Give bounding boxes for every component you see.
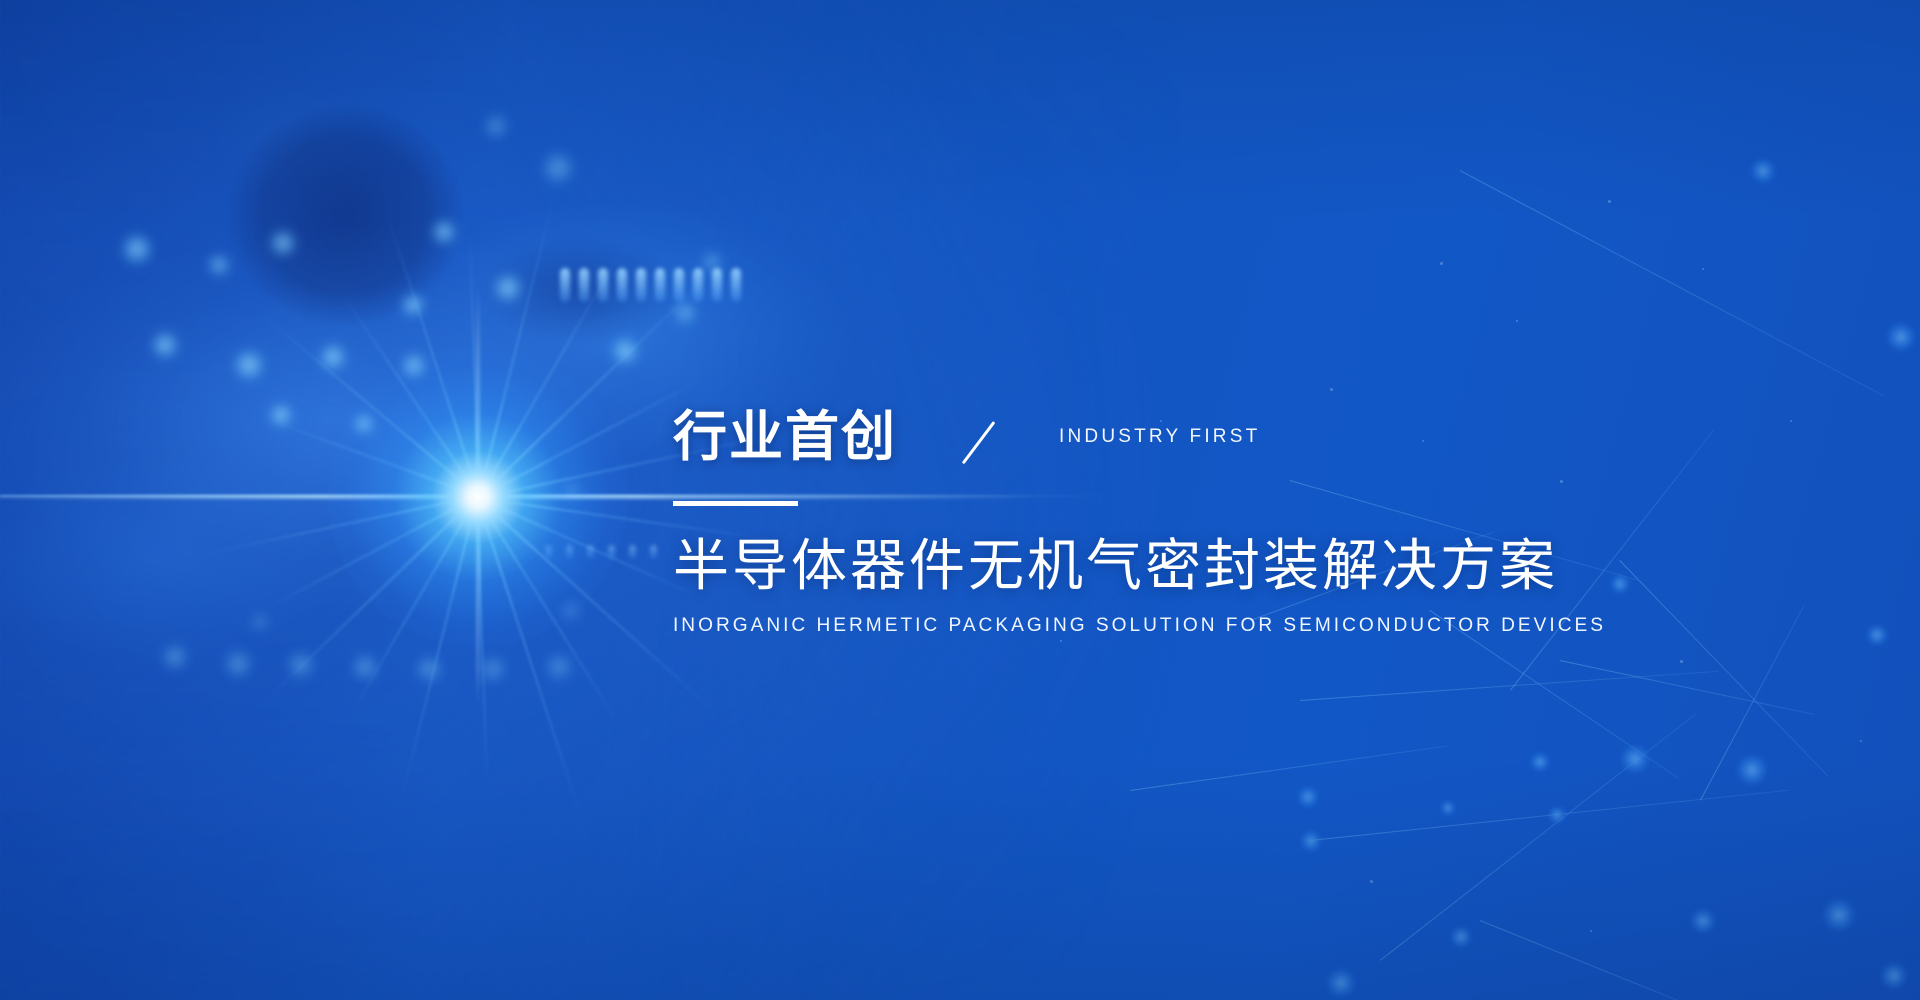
network-node <box>1736 754 1768 786</box>
network-edge <box>1380 714 1696 961</box>
ic-pin <box>636 268 646 302</box>
network-edge <box>1560 660 1815 715</box>
network-edge <box>1460 170 1884 396</box>
network-node <box>1440 800 1456 816</box>
bokeh-dot <box>318 342 348 372</box>
hero-banner: 行业首创 INDUSTRY FIRST 半导体器件无机气密封装解决方案 INOR… <box>0 0 1920 1000</box>
bokeh-dot <box>492 272 524 304</box>
network-edge <box>1310 790 1787 841</box>
flare-core-glow <box>328 347 628 647</box>
ic-pin <box>650 545 657 559</box>
network-node <box>1866 624 1888 646</box>
network-particle <box>1330 388 1333 391</box>
ic-pin <box>655 268 665 302</box>
ic-pin <box>629 545 636 559</box>
network-node <box>1300 830 1322 852</box>
ic-pin <box>712 268 722 302</box>
network-particle <box>1860 740 1862 742</box>
network-node <box>1880 962 1908 990</box>
network-node <box>1822 898 1856 932</box>
network-edge <box>1130 745 1447 791</box>
network-node <box>1886 322 1916 352</box>
network-particle <box>1702 268 1704 270</box>
bokeh-dot <box>430 218 458 246</box>
bokeh-dot <box>150 330 180 360</box>
eyebrow-title-cn: 行业首创 <box>673 410 897 464</box>
bokeh-dot <box>222 648 254 680</box>
headline-cn: 半导体器件无机气密封装解决方案 <box>673 537 1853 596</box>
eyebrow-row: 行业首创 INDUSTRY FIRST <box>673 404 1853 470</box>
network-node <box>1548 806 1566 824</box>
bokeh-dot <box>232 348 266 382</box>
bokeh-dot <box>672 300 698 326</box>
horizontal-rule-icon <box>673 501 798 506</box>
bokeh-dot <box>540 150 576 186</box>
headline-en: INORGANIC HERMETIC PACKAGING SOLUTION FO… <box>673 614 1829 637</box>
network-particle <box>1370 880 1373 883</box>
network-particle <box>1516 320 1518 322</box>
network-particle <box>1680 660 1683 663</box>
bokeh-dot <box>268 228 298 258</box>
network-node <box>1750 158 1776 184</box>
bokeh-dot <box>610 336 640 366</box>
eyebrow-title-en: INDUSTRY FIRST <box>1059 426 1260 448</box>
diagonal-slash-divider-icon <box>981 415 1043 459</box>
ic-pin <box>560 268 570 302</box>
banner-content: 行业首创 INDUSTRY FIRST 半导体器件无机气密封装解决方案 INOR… <box>673 404 1853 637</box>
ic-pin <box>579 268 589 302</box>
network-node <box>1326 968 1356 998</box>
ic-pin <box>617 268 627 302</box>
ic-pin <box>674 268 684 302</box>
bokeh-dot <box>414 654 444 684</box>
network-particle <box>1608 200 1611 203</box>
network-edge <box>1480 920 1759 1000</box>
bokeh-dot <box>544 652 574 682</box>
bokeh-dot <box>482 112 510 140</box>
bokeh-dot <box>160 642 190 672</box>
network-particle <box>1060 640 1062 642</box>
bokeh-dot <box>250 612 270 632</box>
bokeh-dot <box>206 252 232 278</box>
bokeh-dot <box>120 232 154 266</box>
network-node <box>1690 908 1716 934</box>
ic-pin-strip-upper <box>560 268 741 302</box>
network-node <box>1450 926 1472 948</box>
network-particle <box>1440 262 1443 265</box>
bokeh-dot <box>350 652 380 682</box>
network-edge <box>1300 671 1719 701</box>
ic-pin <box>731 268 741 302</box>
network-node <box>1530 752 1550 772</box>
network-particle <box>1590 930 1592 932</box>
network-node <box>1297 786 1319 808</box>
network-node <box>1620 744 1650 774</box>
